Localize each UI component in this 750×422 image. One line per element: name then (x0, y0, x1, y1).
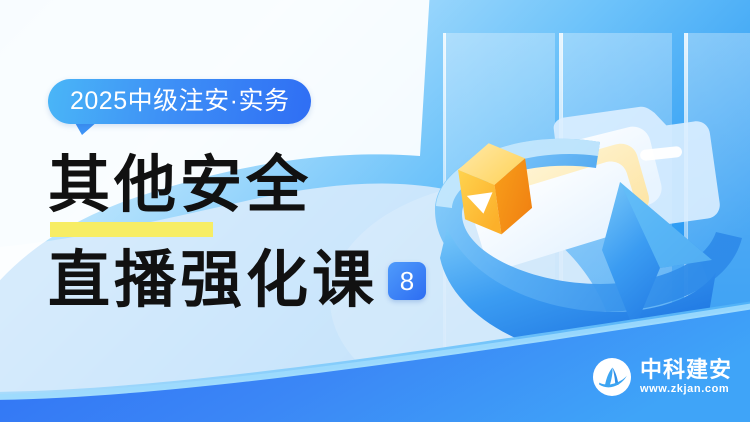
brand-name: 中科建安 (640, 358, 732, 381)
headline-line-2-row: 直播强化课 8 (48, 250, 426, 312)
course-category-label: 2025中级注安·实务 (70, 89, 289, 114)
brand-logo[interactable]: 中科建安 www.zkjan.com (593, 358, 732, 397)
zkjan-circle-logo-icon (593, 358, 631, 396)
episode-number-badge: 8 (388, 262, 426, 300)
episode-number-text: 8 (400, 268, 414, 294)
headline-line-1: 其他安全 (48, 155, 312, 217)
banner-content: 2025中级注安·实务 其他安全 直播强化课 8 中科建安 www.zkjan.… (0, 0, 750, 422)
course-category-badge: 2025中级注安·实务 (48, 79, 311, 124)
brand-url: www.zkjan.com (640, 383, 732, 397)
course-promo-banner: 2025中级注安·实务 其他安全 直播强化课 8 中科建安 www.zkjan.… (0, 0, 750, 422)
headline-underline (50, 222, 213, 237)
headline-line-2: 直播强化课 (48, 250, 378, 312)
brand-text-block: 中科建安 www.zkjan.com (640, 358, 732, 397)
